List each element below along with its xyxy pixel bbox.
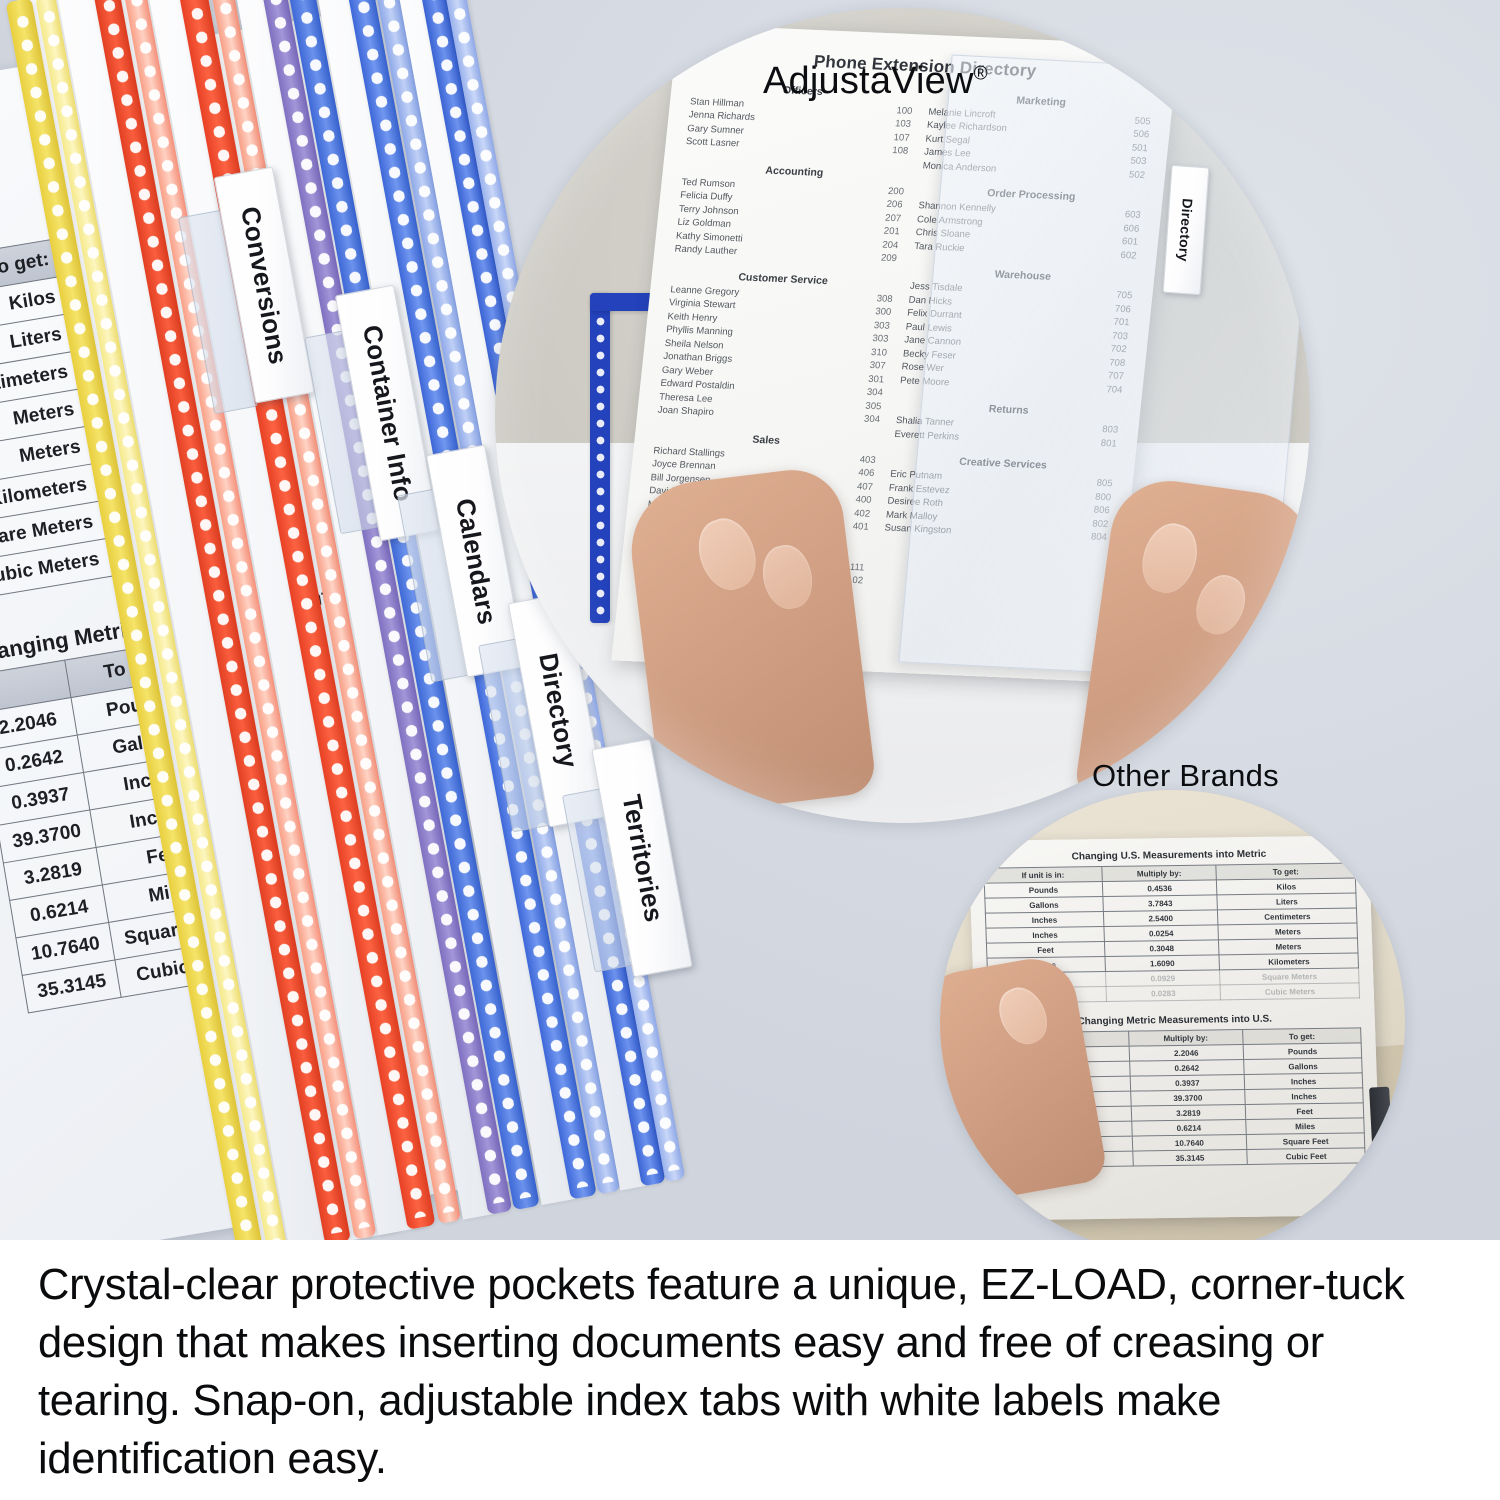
directory-entry-extension: 100 — [886, 104, 913, 119]
directory-entry-extension: 300 — [865, 305, 892, 320]
directory-section: Customer ServiceLeanne Gregory308Virgini… — [657, 268, 895, 427]
directory-entry-name: Joan Shapiro — [657, 404, 714, 420]
table-header-cell: Multiply by: — [1102, 865, 1217, 882]
directory-entry-extension: 400 — [845, 493, 872, 508]
table-cell-multiply: 3.2819 — [1131, 1105, 1246, 1122]
directory-entry-extension: 406 — [848, 466, 875, 481]
directory-entry-extension: 401 — [842, 520, 869, 535]
directory-entry-extension: 402 — [843, 506, 870, 521]
fingernail — [1134, 517, 1205, 600]
directory-entry-extension: 204 — [872, 238, 899, 253]
ob-table1-title: Changing U.S. Measurements into Metric — [983, 848, 1355, 864]
table-header-cell: If unit is in: — [984, 867, 1102, 884]
directory-entry-extension: 310 — [860, 345, 887, 360]
table-cell-get: Pounds — [1243, 1043, 1361, 1060]
product-photograph: To get:KilosLitersCentimetersMetersMeter… — [0, 0, 1500, 1255]
table-cell-multiply: 0.6214 — [1131, 1119, 1246, 1136]
table-header-cell: To get: — [1243, 1028, 1361, 1045]
table-header-cell: Multiply by: — [1128, 1030, 1243, 1047]
registered-trademark-icon: ® — [974, 63, 988, 84]
adjustaview-inset-photo: Phone Extension Directory OfficersStan H… — [495, 8, 1310, 823]
table-cell-unit: Pounds — [984, 882, 1102, 899]
product-image-stage: To get:KilosLitersCentimetersMetersMeter… — [0, 0, 1500, 1500]
directory-entry-extension: 304 — [853, 412, 880, 427]
table-cell-multiply: 10.7640 — [1132, 1134, 1247, 1151]
table-cell-get: Feet — [1245, 1103, 1363, 1120]
table-cell-multiply: 0.0929 — [1105, 970, 1220, 987]
table-cell-multiply: 0.2642 — [1129, 1060, 1244, 1077]
other-brands-inset-photo: Changing U.S. Measurements into Metric I… — [940, 790, 1405, 1255]
directory-entry-name: Scott Lasner — [685, 136, 740, 152]
directory-entry-extension: 201 — [873, 225, 900, 240]
directory-entry-extension: 304 — [856, 386, 883, 401]
table-cell-get: Miles — [1246, 1118, 1364, 1135]
table-cell-multiply: 1.6090 — [1105, 955, 1220, 972]
inset-index-tab-label: Directory — [1176, 198, 1196, 262]
directory-entry-extension: 303 — [863, 319, 890, 334]
table-cell-multiply: 2.5400 — [1103, 910, 1218, 927]
table-cell-multiply: 35.3145 — [1132, 1149, 1247, 1166]
brand-name: AdjustaView — [763, 60, 974, 102]
caption-text: Crystal-clear protective pockets feature… — [38, 1256, 1466, 1488]
left-hand — [624, 464, 878, 818]
directory-entry-extension: 206 — [876, 198, 903, 213]
table-cell-get: Gallons — [1244, 1058, 1362, 1075]
directory-section: AccountingTed Rumson200Felicia Duffy206T… — [674, 161, 906, 266]
directory-entry-extension: 403 — [849, 453, 876, 468]
table-cell-multiply: 39.3700 — [1130, 1090, 1245, 1107]
directory-entry-extension: 305 — [855, 399, 882, 414]
directory-entry-extension: 407 — [846, 479, 873, 494]
fingernail — [757, 540, 818, 613]
table-cell-multiply: 0.3937 — [1130, 1075, 1245, 1092]
other-brands-label: Other Brands — [1092, 758, 1279, 794]
table-cell-multiply: 0.0283 — [1106, 985, 1221, 1002]
directory-entry-extension: 209 — [870, 251, 897, 266]
directory-entry-extension: 301 — [858, 372, 885, 387]
fingernail — [991, 980, 1056, 1051]
table-cell-multiply: 2.2046 — [1129, 1045, 1244, 1062]
directory-entry-extension: 200 — [877, 184, 904, 199]
fingernail — [690, 511, 764, 597]
directory-entry-extension: 307 — [859, 359, 886, 374]
brand-label: AdjustaView® — [763, 60, 988, 103]
directory-entry-name: Randy Lauther — [674, 243, 738, 259]
directory-entry-extension: 103 — [884, 117, 911, 132]
directory-entry-extension: 207 — [874, 211, 901, 226]
directory-entry-extension: 107 — [883, 131, 910, 146]
fingernail — [1188, 568, 1253, 641]
table-cell-unit: Feet — [986, 941, 1104, 958]
table-cell-get: Square Feet — [1247, 1133, 1365, 1150]
table-cell-get: Inches — [1245, 1088, 1363, 1105]
table-cell-multiply: 3.7843 — [1103, 895, 1218, 912]
table-cell-unit: Gallons — [985, 897, 1103, 914]
blue-pocket-frame-left — [590, 293, 610, 623]
table-cell-get: Cubic Feet — [1247, 1148, 1365, 1165]
directory-entry-extension: 303 — [862, 332, 889, 347]
table-cell-multiply: 0.0254 — [1104, 925, 1219, 942]
table-cell-get: Inches — [1244, 1073, 1362, 1090]
directory-entry-extension: 308 — [866, 292, 893, 307]
table-cell-get: Cubic Meters — [1220, 983, 1359, 1000]
table-cell-multiply: 0.4536 — [1102, 880, 1217, 897]
table-cell-unit: Inches — [985, 912, 1103, 929]
directory-entry-extension: 108 — [881, 144, 908, 159]
caption-panel: Crystal-clear protective pockets feature… — [0, 1240, 1500, 1500]
table-cell-multiply: 0.3048 — [1104, 940, 1219, 957]
table-cell-unit: Inches — [986, 927, 1104, 944]
